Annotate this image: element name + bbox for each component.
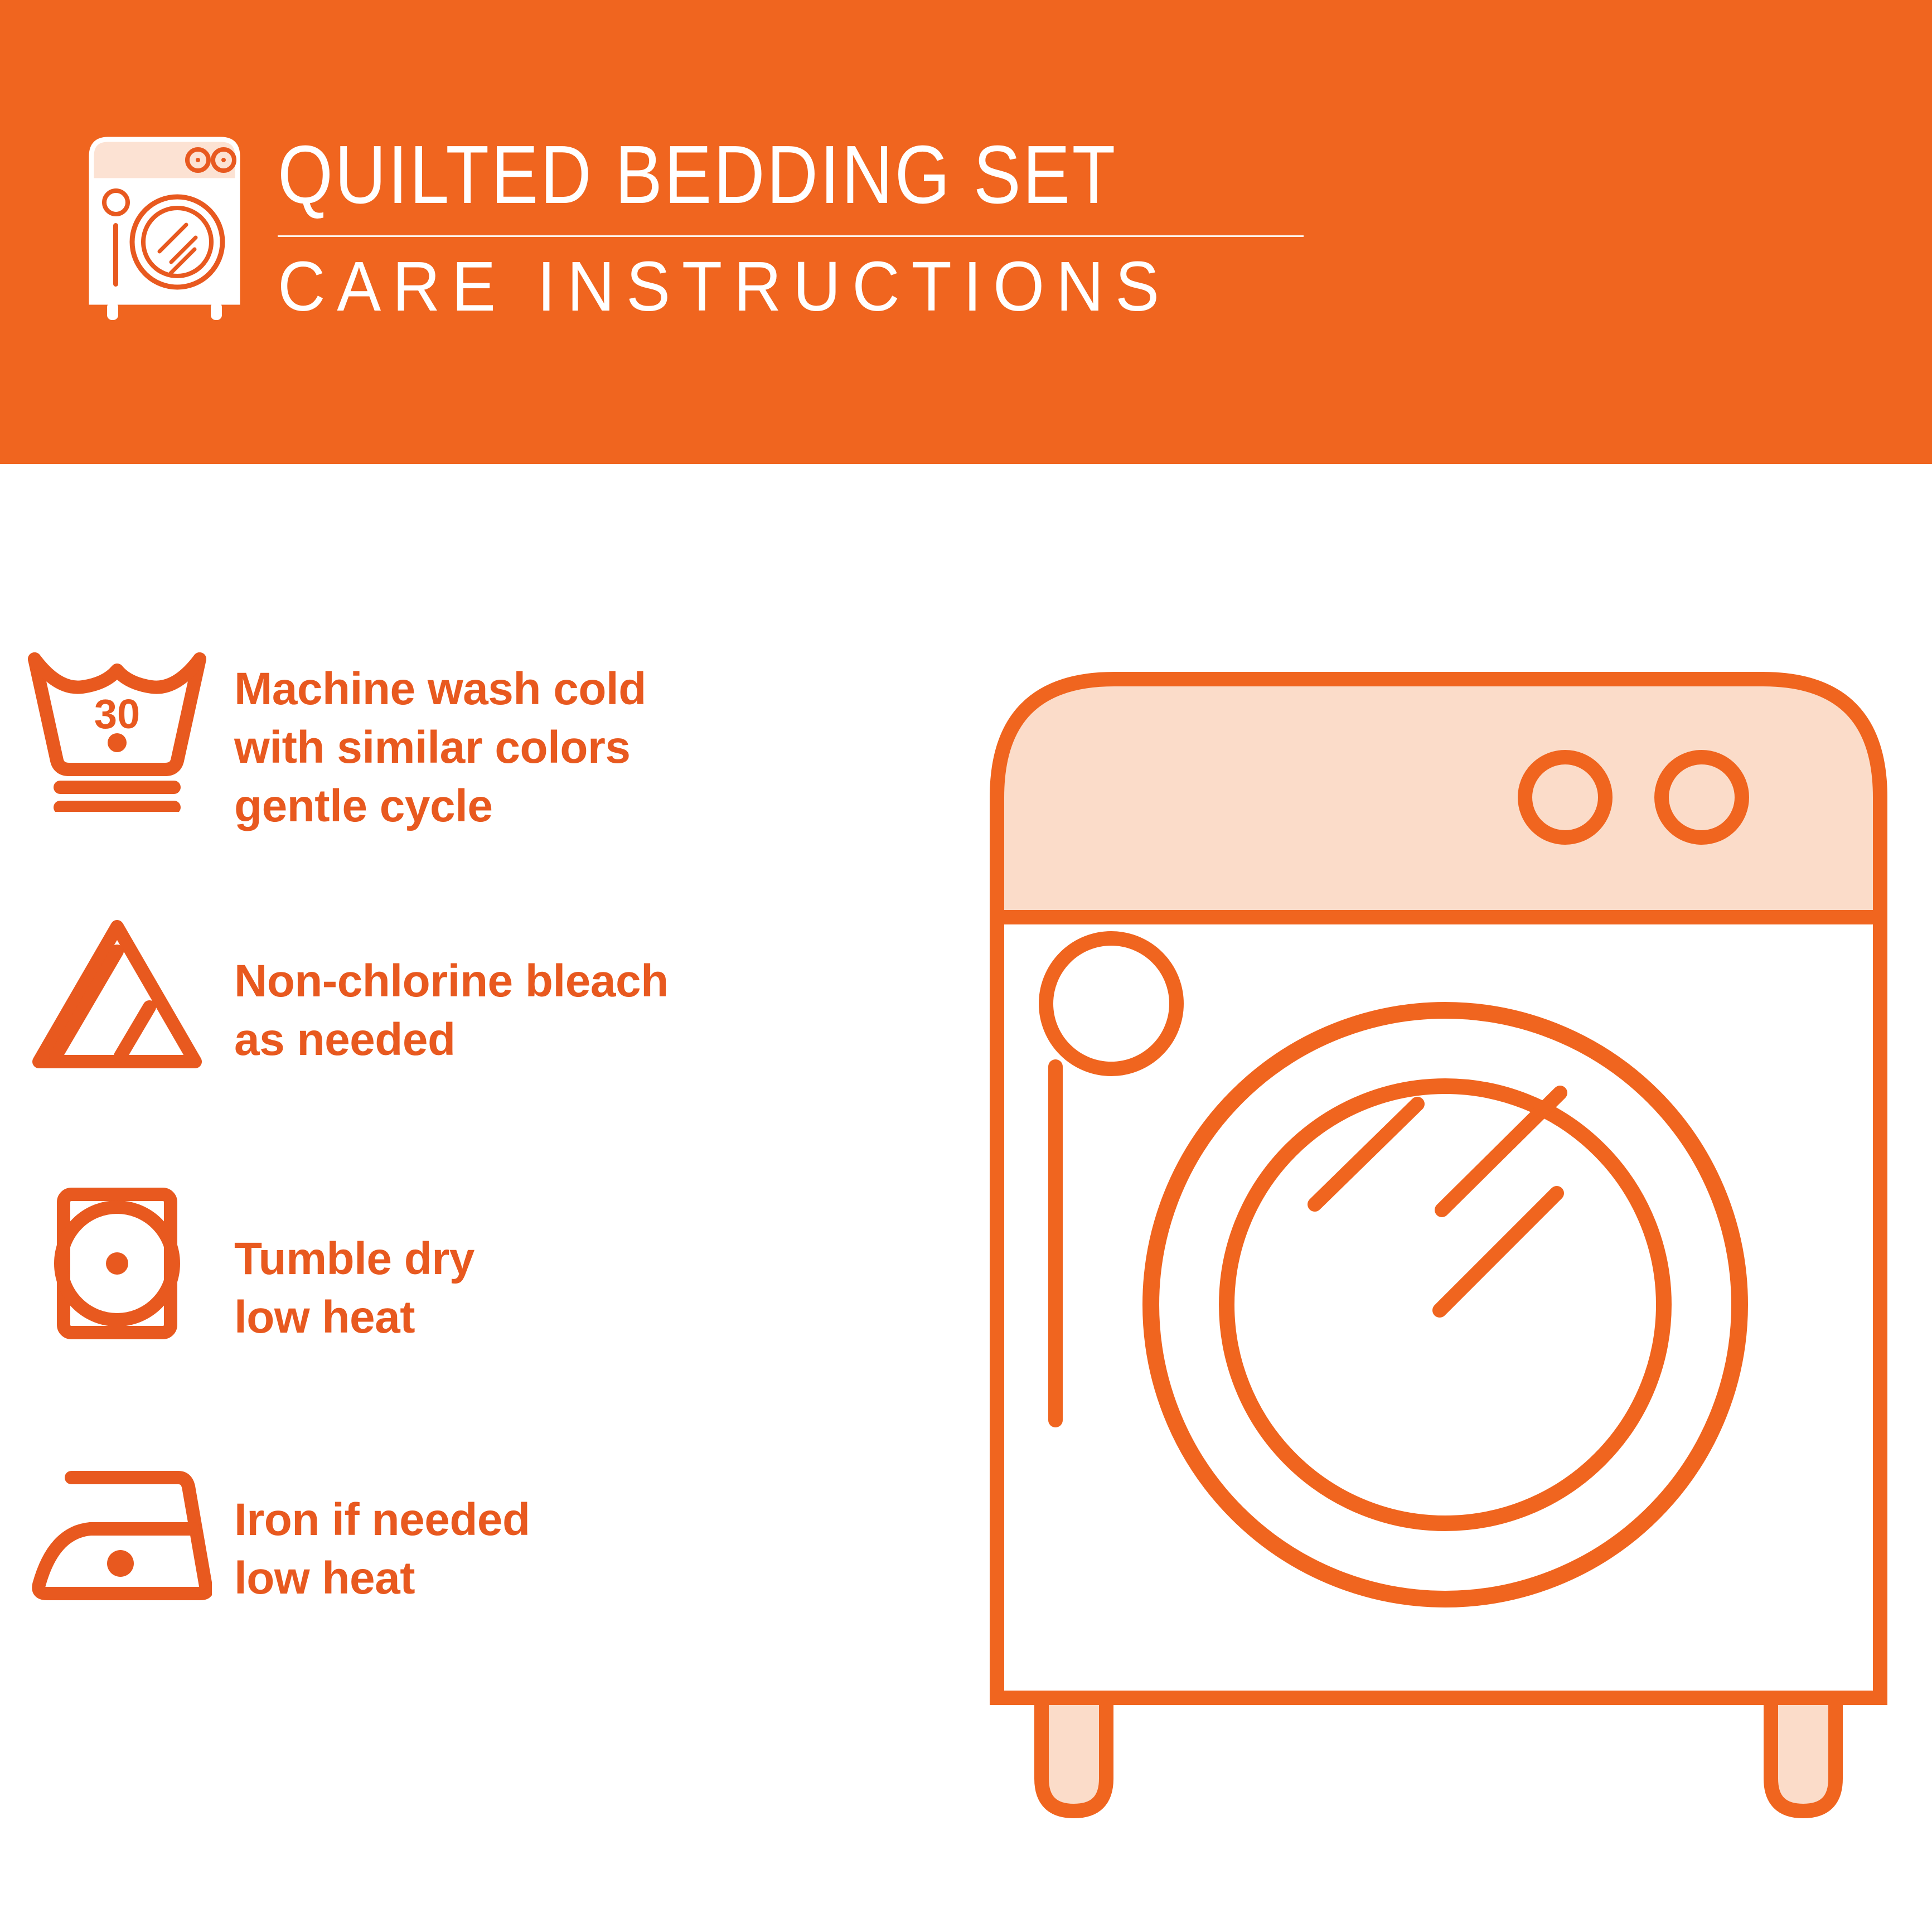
care-line: Iron if needed — [234, 1491, 530, 1550]
title-divider — [278, 235, 1304, 237]
non-chlorine-bleach-triangle-icon — [0, 909, 234, 1079]
control-knob — [1662, 757, 1742, 837]
tumble-dry-low-heat-icon — [0, 1176, 234, 1347]
care-row-bleach: Non-chlorine bleach as needed — [0, 909, 948, 1176]
door-handle — [1048, 1059, 1063, 1427]
care-row-machine-wash: 30 Machine wash cold with similar colors… — [0, 641, 948, 909]
wash-temperature-label: 30 — [94, 691, 140, 737]
care-text-tumble-dry: Tumble dry low heat — [234, 1176, 474, 1347]
header-content: QUILTED BEDDING SET CARE INSTRUCTIONS — [84, 129, 1304, 325]
care-line: gentle cycle — [234, 777, 646, 836]
care-line: Tumble dry — [234, 1230, 474, 1289]
care-text-bleach: Non-chlorine bleach as needed — [234, 909, 669, 1069]
wash-tub-30-gentle-icon: 30 — [0, 641, 234, 812]
care-text-machine-wash: Machine wash cold with similar colors ge… — [234, 641, 646, 836]
care-line: with similar colors — [234, 719, 646, 777]
washer-leg — [1771, 1698, 1836, 1811]
page-header: QUILTED BEDDING SET CARE INSTRUCTIONS — [0, 0, 1932, 464]
care-row-tumble-dry: Tumble dry low heat — [0, 1176, 948, 1444]
care-line: as needed — [234, 1011, 669, 1069]
care-line: low heat — [234, 1550, 530, 1608]
care-line: Non-chlorine bleach — [234, 952, 669, 1011]
washing-machine-icon — [84, 129, 245, 325]
page-subtitle: CARE INSTRUCTIONS — [278, 251, 1242, 322]
control-knob — [1525, 757, 1605, 837]
care-text-iron: Iron if needed low heat — [234, 1444, 530, 1608]
care-line: low heat — [234, 1289, 474, 1347]
header-title-block: QUILTED BEDDING SET CARE INSTRUCTIONS — [278, 129, 1304, 322]
care-instruction-list: 30 Machine wash cold with similar colors… — [0, 641, 948, 1712]
large-washing-machine-illustration — [965, 613, 1912, 1873]
care-line: Machine wash cold — [234, 660, 646, 719]
care-row-iron: Iron if needed low heat — [0, 1444, 948, 1712]
care-instructions-page: QUILTED BEDDING SET CARE INSTRUCTIONS 30 — [0, 0, 1932, 1932]
iron-low-heat-icon — [0, 1444, 234, 1615]
washer-leg — [1042, 1698, 1106, 1811]
page-title: QUILTED BEDDING SET — [278, 134, 1160, 216]
